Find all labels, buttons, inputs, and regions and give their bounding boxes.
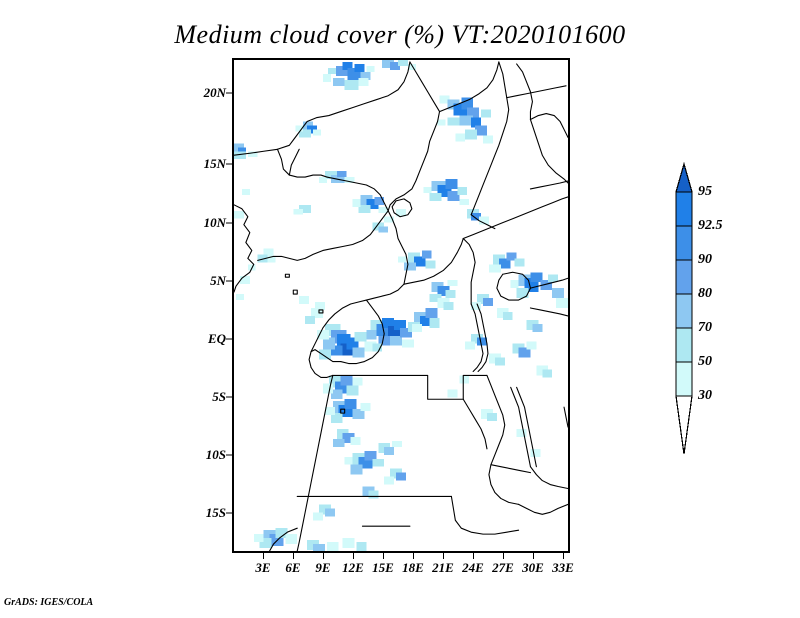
- x-tick-mark-33E: [563, 553, 564, 559]
- y-tick-mark-5N: [226, 281, 232, 282]
- cloud-cover-field: [234, 60, 568, 551]
- y-tick-label-10N: 10N: [204, 215, 226, 231]
- colorbar: 95 92.5 90 80 70 50 30: [670, 162, 780, 462]
- x-tick-mark-9E: [323, 553, 324, 559]
- colorbar-label-92_5: 92.5: [698, 218, 723, 234]
- y-tick-label-5N: 5N: [210, 273, 226, 289]
- colorbar-swatches: [670, 162, 700, 462]
- x-tick-mark-30E: [533, 553, 534, 559]
- colorbar-band-90: [676, 260, 692, 294]
- x-tick-label-21E: 21E: [432, 560, 454, 576]
- colorbar-band-70: [676, 328, 692, 362]
- map-canvas: [234, 60, 568, 551]
- colorbar-band-50: [676, 362, 692, 396]
- y-tick-label-10S: 10S: [206, 447, 226, 463]
- y-tick-mark-10S: [226, 455, 232, 456]
- x-tick-label-18E: 18E: [402, 560, 424, 576]
- x-tick-mark-18E: [413, 553, 414, 559]
- y-tick-label-EQ: EQ: [208, 331, 226, 347]
- y-tick-mark-5S: [226, 397, 232, 398]
- x-tick-label-15E: 15E: [372, 560, 394, 576]
- page-title: Medium cloud cover (%) VT:2020101600: [0, 20, 800, 50]
- colorbar-band-below-30: [676, 396, 692, 454]
- x-tick-label-33E: 33E: [552, 560, 574, 576]
- x-tick-mark-27E: [503, 553, 504, 559]
- colorbar-band-92_5: [676, 226, 692, 260]
- x-tick-mark-24E: [473, 553, 474, 559]
- colorbar-label-90: 90: [698, 252, 712, 268]
- y-tick-label-20N: 20N: [204, 85, 226, 101]
- x-tick-label-27E: 27E: [492, 560, 514, 576]
- colorbar-band-95: [676, 192, 692, 226]
- y-tick-label-15N: 15N: [204, 156, 226, 172]
- y-tick-mark-20N: [226, 93, 232, 94]
- x-tick-mark-15E: [383, 553, 384, 559]
- x-tick-label-24E: 24E: [462, 560, 484, 576]
- y-axis: 20N 15N 10N 5N EQ 5S 10S 15S: [176, 58, 226, 553]
- colorbar-band-80: [676, 294, 692, 328]
- x-axis: 3E 6E 9E 12E 15E 18E 21E 24E 27E 30E 33E: [232, 560, 570, 580]
- colorbar-label-50: 50: [698, 354, 712, 370]
- x-tick-label-3E: 3E: [255, 560, 270, 576]
- footer-credit: GrADS: IGES/COLA: [4, 597, 93, 608]
- x-tick-mark-21E: [443, 553, 444, 559]
- x-tick-mark-3E: [263, 553, 264, 559]
- y-tick-mark-10N: [226, 223, 232, 224]
- x-tick-label-6E: 6E: [285, 560, 300, 576]
- colorbar-label-80: 80: [698, 286, 712, 302]
- colorbar-label-70: 70: [698, 320, 712, 336]
- y-tick-mark-EQ: [226, 339, 232, 340]
- x-tick-label-12E: 12E: [342, 560, 364, 576]
- y-tick-mark-15S: [226, 513, 232, 514]
- x-tick-mark-6E: [293, 553, 294, 559]
- colorbar-band-above-95: [676, 164, 692, 192]
- colorbar-label-30: 30: [698, 388, 712, 404]
- y-tick-mark-15N: [226, 164, 232, 165]
- colorbar-label-95: 95: [698, 184, 712, 200]
- y-tick-label-5S: 5S: [212, 389, 226, 405]
- x-tick-mark-12E: [353, 553, 354, 559]
- map-plot-area: [232, 58, 570, 553]
- x-tick-label-9E: 9E: [315, 560, 330, 576]
- y-tick-label-15S: 15S: [206, 505, 226, 521]
- x-tick-label-30E: 30E: [522, 560, 544, 576]
